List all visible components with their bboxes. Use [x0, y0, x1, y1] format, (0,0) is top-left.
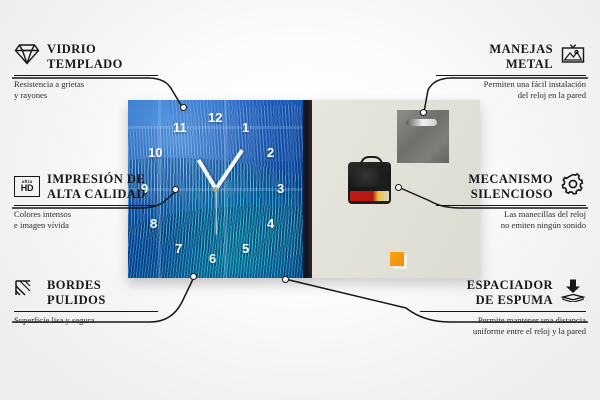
- callout-desc-line: Permiten una fácil instalación: [484, 79, 586, 89]
- callout-title-line: ALTA CALIDAD: [47, 187, 146, 201]
- callout-title-line: DE ESPUMA: [476, 293, 553, 307]
- callout-mecanismo-silencioso[interactable]: MECANISMO SILENCIOSO Las manecillas del …: [436, 172, 586, 232]
- callout-rule: [14, 205, 158, 207]
- callout-desc-line: e imagen vívida: [14, 220, 69, 230]
- clock-numeral: 1: [242, 121, 249, 134]
- callout-desc-line: y rayones: [14, 90, 47, 100]
- callout-title-line: VIDRIO: [47, 42, 96, 56]
- callout-espaciador-espuma[interactable]: ESPACIADOR DE ESPUMA Permite mantener un…: [420, 278, 586, 338]
- clock-numeral: 5: [242, 242, 249, 255]
- callout-rule: [436, 75, 586, 77]
- callout-rule: [420, 311, 586, 313]
- connector-dot-bordes: [190, 273, 197, 280]
- callout-bordes-pulidos[interactable]: BORDES PULIDOS Superficie lisa y segura: [14, 278, 164, 326]
- callout-manejas-metal[interactable]: MANEJAS METAL Permiten una fácil instala…: [436, 42, 586, 102]
- mechanism-label: [350, 191, 389, 201]
- connector-dot-impresion: [172, 186, 179, 193]
- picture-frame-icon: [560, 43, 586, 70]
- callout-desc-line: Superficie lisa y segura: [14, 315, 94, 325]
- callout-rule: [14, 75, 158, 77]
- callout-desc-line: uniforme entre el reloj y la pared: [473, 326, 586, 336]
- clock-numeral: 11: [173, 121, 187, 134]
- mechanism-body: [352, 168, 387, 187]
- callout-vidrio-templado[interactable]: VIDRIO TEMPLADO Resistencia a grietas y …: [14, 42, 164, 102]
- foam-spacer-icon: [560, 278, 586, 307]
- callout-title-line: MECANISMO: [468, 172, 553, 186]
- callout-desc-line: del reloj en la pared: [518, 90, 586, 100]
- metal-hanger-plate: [397, 110, 449, 163]
- infographic-canvas: 12 1 2 3 4 5 6 7 8 9 10 11: [0, 0, 600, 400]
- callout-rule: [436, 205, 586, 207]
- connector-dot-vidrio: [180, 104, 187, 111]
- callout-title-line: PULIDOS: [47, 293, 106, 307]
- hd-icon-large-text: HD: [21, 184, 33, 193]
- clock-numeral: 7: [175, 242, 182, 255]
- foam-spacer: [390, 252, 404, 266]
- callout-title-line: METAL: [506, 57, 553, 71]
- clock-numeral: 4: [267, 217, 274, 230]
- hanger-slot: [406, 119, 437, 126]
- callout-desc-line: Permite mantener una distancia: [478, 315, 586, 325]
- callout-desc-line: Resistencia a grietas: [14, 79, 84, 89]
- clock-numeral: 10: [148, 146, 162, 159]
- clock-numeral: 12: [208, 111, 222, 124]
- callout-title-line: SILENCIOSO: [471, 187, 553, 201]
- clock-second-hand: [215, 189, 216, 235]
- callout-desc-line: Las manecillas del reloj: [504, 209, 586, 219]
- connector-dot-mecanismo: [395, 184, 402, 191]
- callout-rule: [14, 311, 158, 313]
- diamond-icon: [14, 43, 40, 70]
- clock-center-cap: [213, 187, 218, 192]
- clock-mechanism: [348, 162, 391, 204]
- mechanism-loop: [360, 156, 383, 167]
- clock-edge: [303, 100, 312, 278]
- callout-impresion-alta-calidad[interactable]: ultra HD IMPRESIÓN DE ALTA CALIDAD Color…: [14, 172, 164, 232]
- callout-desc-line: no emiten ningún sonido: [501, 220, 586, 230]
- polished-edges-icon: [14, 279, 40, 306]
- callout-title-line: ESPACIADOR: [467, 278, 553, 292]
- callout-title-line: BORDES: [47, 278, 101, 292]
- clock-numeral: 2: [267, 146, 274, 159]
- gear-icon: [560, 172, 586, 201]
- connector-dot-manejas: [420, 109, 427, 116]
- callout-title-line: TEMPLADO: [47, 57, 123, 71]
- callout-title-line: IMPRESIÓN DE: [47, 172, 145, 186]
- connector-dot-espaciador: [282, 276, 289, 283]
- callout-title-line: MANEJAS: [489, 42, 553, 56]
- clock-numeral: 6: [209, 252, 216, 265]
- clock-numeral: 3: [277, 182, 284, 195]
- callout-desc-line: Colores intensos: [14, 209, 71, 219]
- ultra-hd-icon: ultra HD: [14, 176, 40, 197]
